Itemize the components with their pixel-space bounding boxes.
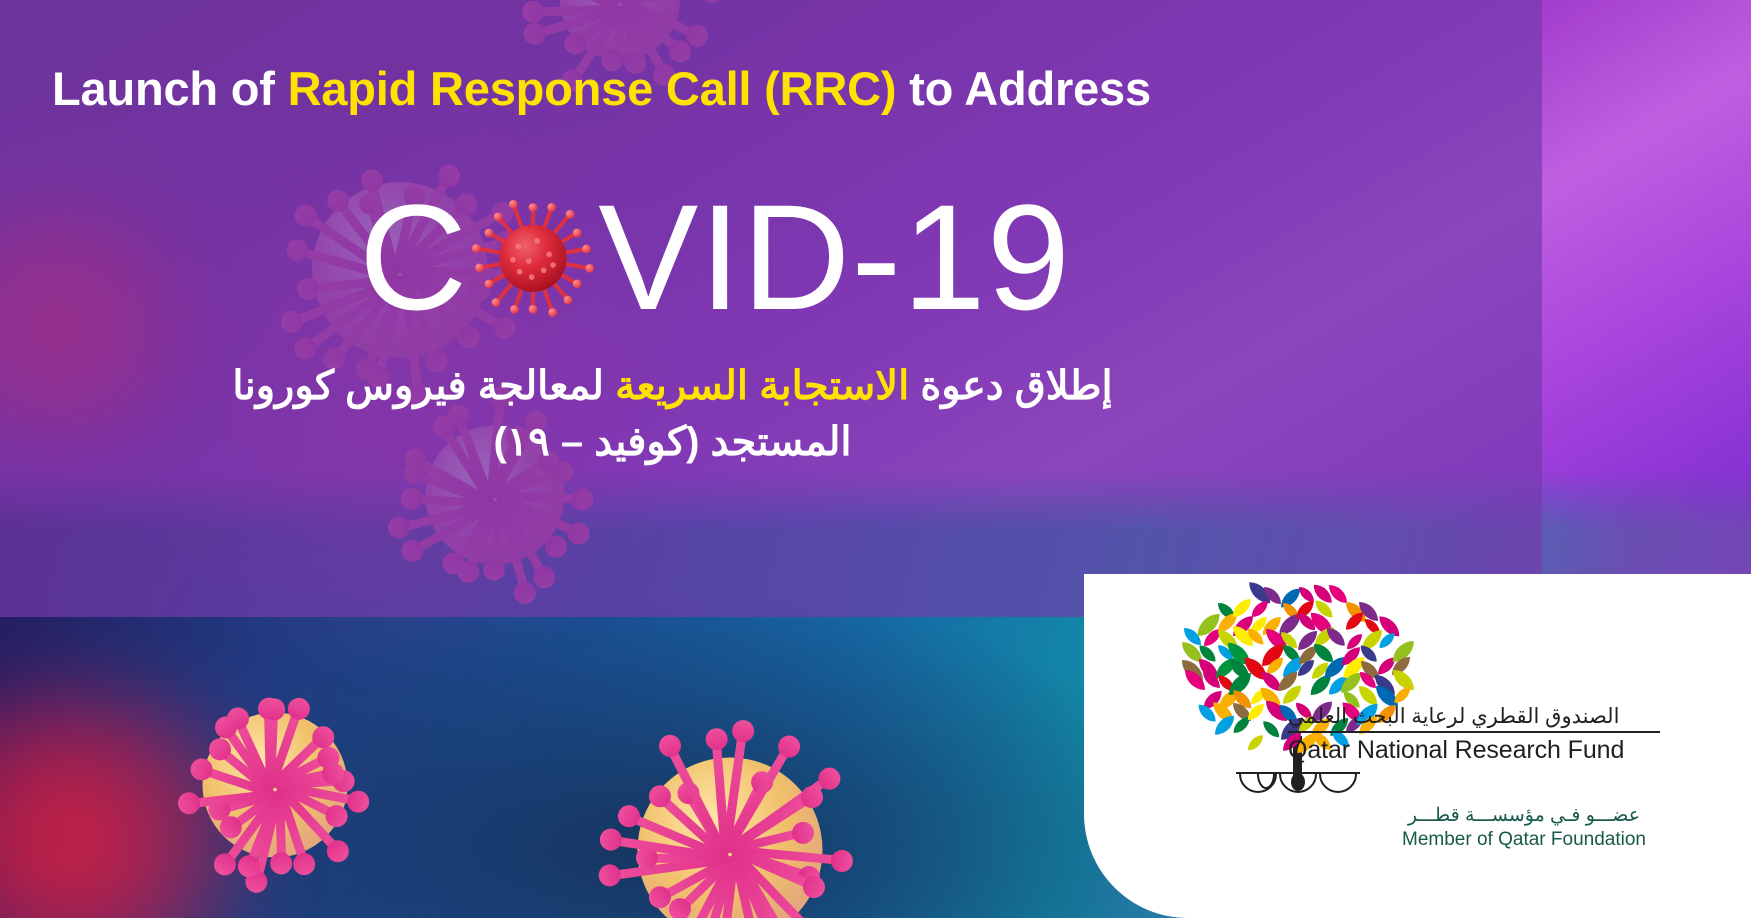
virus-body bbox=[500, 225, 567, 292]
virus-spike-knob bbox=[573, 280, 582, 289]
virus-spike-knob bbox=[510, 305, 519, 314]
arabic-line1-after: لمعالجة فيروس كورونا bbox=[232, 364, 615, 408]
tree-leaf bbox=[1215, 716, 1234, 735]
tree-leaf bbox=[1327, 628, 1345, 646]
tree-leaf bbox=[1252, 601, 1268, 617]
arabic-line1-before: إطلاق دعوة bbox=[909, 364, 1112, 408]
logo-text-block: الصندوق القطري لرعاية البحث العلمي Qatar… bbox=[1288, 705, 1698, 765]
virus-surface-dot bbox=[516, 244, 522, 250]
tree-root-arcs bbox=[1236, 772, 1360, 802]
tree-leaf bbox=[1346, 613, 1363, 630]
member-english: Member of Qatar Foundation bbox=[1374, 828, 1674, 853]
virus-spike-knob bbox=[492, 298, 501, 307]
logo-arabic-name: الصندوق القطري لرعاية البحث العلمي bbox=[1288, 705, 1698, 728]
tree-leaf bbox=[1263, 721, 1279, 737]
virus-spike-knob bbox=[547, 203, 556, 212]
virus-surface-dot bbox=[517, 269, 523, 275]
logo-english-name: Qatar National Research Fund bbox=[1288, 736, 1698, 765]
member-arabic: عضـــو فـي مؤسســـة قطـــر bbox=[1374, 804, 1674, 828]
headline-accent: Rapid Response Call (RRC) bbox=[288, 62, 897, 115]
virus-surface-dot bbox=[547, 252, 553, 258]
virus-spike-knob bbox=[586, 264, 595, 273]
tree-leaf bbox=[1394, 687, 1410, 703]
tree-leaf bbox=[1359, 686, 1377, 704]
tree-leaf bbox=[1233, 599, 1251, 617]
covid-title-suffix: VID-19 bbox=[598, 182, 1071, 332]
arabic-subtitle-line-1: إطلاق دعوة الاستجابة السريعة لمعالجة فير… bbox=[60, 362, 1285, 410]
coronavirus-glyph bbox=[466, 190, 600, 324]
qnrf-logo-card: الصندوق القطري لرعاية البحث العلمي Qatar… bbox=[1084, 574, 1751, 918]
virus-spike-knob bbox=[529, 305, 538, 314]
virus-spike-knob bbox=[549, 309, 558, 318]
covid-title: CVID-19 bbox=[0, 170, 1430, 332]
logo-inner: الصندوق القطري لرعاية البحث العلمي Qatar… bbox=[1084, 574, 1510, 766]
arabic-subtitle-line-2: المستجد (كوفيد – ١٩) bbox=[60, 418, 1285, 466]
virus-spike-knob bbox=[573, 229, 582, 238]
tree-roots bbox=[1236, 772, 1360, 802]
virus-spike-knob bbox=[509, 200, 518, 209]
virus-surface-dot bbox=[529, 275, 535, 281]
arabic-line1-accent: الاستجابة السريعة bbox=[615, 364, 909, 408]
headline-part-1: Launch of bbox=[52, 62, 288, 115]
member-block: عضـــو فـي مؤسســـة قطـــر Member of Qat… bbox=[1374, 804, 1674, 852]
covid-announcement-banner: Launch of Rapid Response Call (RRC) to A… bbox=[0, 0, 1751, 918]
virus-spike-knob bbox=[564, 296, 573, 305]
virus-spike-knob bbox=[472, 244, 481, 253]
virus-surface-dot bbox=[526, 259, 532, 265]
virus-spike-knob bbox=[475, 264, 484, 273]
virus-spike-knob bbox=[485, 229, 494, 238]
virus-spike-knob bbox=[529, 203, 538, 212]
virus-surface-dot bbox=[534, 238, 540, 244]
headline-part-2: to Address bbox=[896, 62, 1151, 115]
tree-leaf bbox=[1299, 587, 1314, 602]
covid-title-prefix: C bbox=[359, 182, 468, 332]
tree-leaf bbox=[1248, 735, 1263, 750]
virus-spike-knob bbox=[582, 245, 591, 254]
tree-leaf bbox=[1314, 644, 1333, 663]
virus-spike-knob bbox=[485, 280, 494, 289]
virus-surface-dot bbox=[551, 263, 557, 269]
logo-divider bbox=[1288, 731, 1660, 733]
virus-spike-knob bbox=[566, 210, 575, 219]
coronavirus-icon bbox=[466, 190, 600, 324]
virus-spike-knob bbox=[494, 213, 503, 222]
virus-surface-dot bbox=[510, 257, 516, 263]
virus-surface-dot bbox=[541, 268, 547, 274]
page-headline: Launch of Rapid Response Call (RRC) to A… bbox=[52, 64, 1372, 115]
tree-leaf bbox=[1393, 670, 1413, 690]
